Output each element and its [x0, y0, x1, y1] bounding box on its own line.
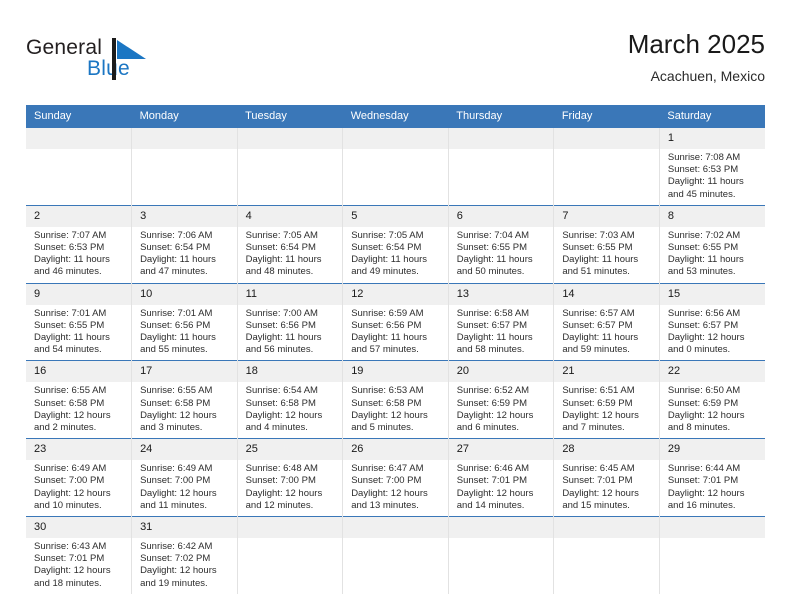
- day-sunrise-text: Sunrise: 6:55 AM: [140, 385, 232, 397]
- day-sunset-text: Sunset: 6:56 PM: [140, 320, 232, 332]
- day-sunrise-text: Sunrise: 7:01 AM: [34, 308, 126, 320]
- day-number: 4: [238, 206, 343, 227]
- day-daylight-line2-text: and 51 minutes.: [562, 266, 654, 278]
- day-sun-info: Sunrise: 6:49 AMSunset: 7:00 PMDaylight:…: [132, 460, 237, 516]
- calendar-week-row: 1Sunrise: 7:08 AMSunset: 6:53 PMDaylight…: [26, 128, 765, 205]
- day-sun-info: Sunrise: 6:58 AMSunset: 6:57 PMDaylight:…: [449, 305, 554, 361]
- day-sun-info: Sunrise: 6:55 AMSunset: 6:58 PMDaylight:…: [26, 382, 131, 438]
- day-daylight-line1-text: Daylight: 11 hours: [246, 254, 338, 266]
- day-daylight-line2-text: and 58 minutes.: [457, 344, 549, 356]
- day-sun-info: Sunrise: 7:06 AMSunset: 6:54 PMDaylight:…: [132, 227, 237, 283]
- calendar-day-cell[interactable]: 17Sunrise: 6:55 AMSunset: 6:58 PMDayligh…: [132, 361, 238, 439]
- calendar-empty-cell: [237, 517, 343, 594]
- calendar-empty-cell: [554, 128, 660, 205]
- day-daylight-line1-text: Daylight: 12 hours: [351, 410, 443, 422]
- day-sun-info: Sunrise: 6:57 AMSunset: 6:57 PMDaylight:…: [554, 305, 659, 361]
- day-sun-info: Sunrise: 6:52 AMSunset: 6:59 PMDaylight:…: [449, 382, 554, 438]
- day-daylight-line1-text: Daylight: 12 hours: [140, 488, 232, 500]
- day-daylight-line2-text: and 53 minutes.: [668, 266, 760, 278]
- day-daylight-line1-text: Daylight: 12 hours: [562, 410, 654, 422]
- calendar-day-cell[interactable]: 9Sunrise: 7:01 AMSunset: 6:55 PMDaylight…: [26, 283, 132, 361]
- calendar-day-cell[interactable]: 25Sunrise: 6:48 AMSunset: 7:00 PMDayligh…: [237, 439, 343, 517]
- day-number: [554, 128, 659, 149]
- calendar-table: Sunday Monday Tuesday Wednesday Thursday…: [26, 105, 765, 594]
- day-number: 1: [660, 128, 765, 149]
- day-number: [660, 517, 765, 538]
- day-sunrise-text: Sunrise: 6:46 AM: [457, 463, 549, 475]
- day-daylight-line2-text: and 4 minutes.: [246, 422, 338, 434]
- day-daylight-line1-text: Daylight: 12 hours: [668, 488, 760, 500]
- day-number: 9: [26, 284, 131, 305]
- day-number: [449, 128, 554, 149]
- day-sunrise-text: Sunrise: 7:04 AM: [457, 230, 549, 242]
- day-sun-info: Sunrise: 7:05 AMSunset: 6:54 PMDaylight:…: [343, 227, 448, 283]
- day-sun-info: Sunrise: 6:49 AMSunset: 7:00 PMDaylight:…: [26, 460, 131, 516]
- calendar-day-cell[interactable]: 15Sunrise: 6:56 AMSunset: 6:57 PMDayligh…: [659, 283, 765, 361]
- day-daylight-line1-text: Daylight: 12 hours: [562, 488, 654, 500]
- day-sunset-text: Sunset: 6:54 PM: [140, 242, 232, 254]
- calendar-day-cell[interactable]: 13Sunrise: 6:58 AMSunset: 6:57 PMDayligh…: [448, 283, 554, 361]
- day-sunrise-text: Sunrise: 6:58 AM: [457, 308, 549, 320]
- day-sun-info: Sunrise: 6:51 AMSunset: 6:59 PMDaylight:…: [554, 382, 659, 438]
- calendar-week-row: 30Sunrise: 6:43 AMSunset: 7:01 PMDayligh…: [26, 517, 765, 594]
- day-number: 19: [343, 361, 448, 382]
- calendar-day-cell[interactable]: 10Sunrise: 7:01 AMSunset: 6:56 PMDayligh…: [132, 283, 238, 361]
- calendar-empty-cell: [132, 128, 238, 205]
- calendar-week-row: 2Sunrise: 7:07 AMSunset: 6:53 PMDaylight…: [26, 205, 765, 283]
- day-daylight-line1-text: Daylight: 12 hours: [140, 565, 232, 577]
- flag-triangle-icon: [112, 38, 150, 80]
- weekday-header-sunday: Sunday: [26, 105, 132, 128]
- day-sunset-text: Sunset: 6:59 PM: [457, 398, 549, 410]
- day-number: 26: [343, 439, 448, 460]
- day-daylight-line2-text: and 11 minutes.: [140, 500, 232, 512]
- day-sunset-text: Sunset: 7:00 PM: [246, 475, 338, 487]
- day-sunset-text: Sunset: 6:53 PM: [668, 164, 760, 176]
- day-daylight-line1-text: Daylight: 12 hours: [246, 410, 338, 422]
- day-number: 3: [132, 206, 237, 227]
- calendar-day-cell[interactable]: 5Sunrise: 7:05 AMSunset: 6:54 PMDaylight…: [343, 205, 449, 283]
- day-sun-info: Sunrise: 7:02 AMSunset: 6:55 PMDaylight:…: [660, 227, 765, 283]
- day-daylight-line2-text: and 7 minutes.: [562, 422, 654, 434]
- page-subtitle: Acachuen, Mexico: [628, 66, 765, 86]
- day-sunrise-text: Sunrise: 7:02 AM: [668, 230, 760, 242]
- day-daylight-line1-text: Daylight: 12 hours: [140, 410, 232, 422]
- day-sunrise-text: Sunrise: 6:56 AM: [668, 308, 760, 320]
- day-number: 5: [343, 206, 448, 227]
- weekday-header-monday: Monday: [132, 105, 238, 128]
- day-sun-info: Sunrise: 6:45 AMSunset: 7:01 PMDaylight:…: [554, 460, 659, 516]
- day-sun-info: Sunrise: 7:05 AMSunset: 6:54 PMDaylight:…: [238, 227, 343, 283]
- day-daylight-line2-text: and 47 minutes.: [140, 266, 232, 278]
- day-number: 15: [660, 284, 765, 305]
- day-sun-info: Sunrise: 6:50 AMSunset: 6:59 PMDaylight:…: [660, 382, 765, 438]
- calendar-day-cell[interactable]: 8Sunrise: 7:02 AMSunset: 6:55 PMDaylight…: [659, 205, 765, 283]
- day-sunset-text: Sunset: 6:59 PM: [562, 398, 654, 410]
- day-sun-info: Sunrise: 6:53 AMSunset: 6:58 PMDaylight:…: [343, 382, 448, 438]
- day-sun-info: Sunrise: 6:59 AMSunset: 6:56 PMDaylight:…: [343, 305, 448, 361]
- day-sunrise-text: Sunrise: 7:06 AM: [140, 230, 232, 242]
- calendar-day-cell[interactable]: 2Sunrise: 7:07 AMSunset: 6:53 PMDaylight…: [26, 205, 132, 283]
- calendar-body: 1Sunrise: 7:08 AMSunset: 6:53 PMDaylight…: [26, 128, 765, 594]
- day-sunset-text: Sunset: 7:02 PM: [140, 553, 232, 565]
- calendar-week-row: 9Sunrise: 7:01 AMSunset: 6:55 PMDaylight…: [26, 283, 765, 361]
- day-sunrise-text: Sunrise: 6:52 AM: [457, 385, 549, 397]
- day-sun-info: Sunrise: 6:43 AMSunset: 7:01 PMDaylight:…: [26, 538, 131, 594]
- calendar-empty-cell: [448, 128, 554, 205]
- day-number: [238, 128, 343, 149]
- day-daylight-line1-text: Daylight: 11 hours: [140, 254, 232, 266]
- calendar-week-row: 23Sunrise: 6:49 AMSunset: 7:00 PMDayligh…: [26, 439, 765, 517]
- day-number: [343, 128, 448, 149]
- day-sunrise-text: Sunrise: 6:45 AM: [562, 463, 654, 475]
- page-header: General Blue March 2025 Acachuen, Mexico: [26, 28, 765, 94]
- day-daylight-line2-text: and 50 minutes.: [457, 266, 549, 278]
- day-number: 13: [449, 284, 554, 305]
- day-sunrise-text: Sunrise: 6:49 AM: [140, 463, 232, 475]
- calendar-day-cell[interactable]: 22Sunrise: 6:50 AMSunset: 6:59 PMDayligh…: [659, 361, 765, 439]
- day-sunset-text: Sunset: 6:55 PM: [34, 320, 126, 332]
- day-daylight-line1-text: Daylight: 11 hours: [457, 332, 549, 344]
- day-sunrise-text: Sunrise: 6:44 AM: [668, 463, 760, 475]
- calendar-day-cell[interactable]: 16Sunrise: 6:55 AMSunset: 6:58 PMDayligh…: [26, 361, 132, 439]
- day-number: 16: [26, 361, 131, 382]
- day-daylight-line2-text: and 10 minutes.: [34, 500, 126, 512]
- day-sunset-text: Sunset: 7:00 PM: [140, 475, 232, 487]
- day-sunrise-text: Sunrise: 6:51 AM: [562, 385, 654, 397]
- calendar-day-cell[interactable]: 23Sunrise: 6:49 AMSunset: 7:00 PMDayligh…: [26, 439, 132, 517]
- day-daylight-line1-text: Daylight: 11 hours: [351, 254, 443, 266]
- day-daylight-line2-text: and 5 minutes.: [351, 422, 443, 434]
- day-number: 18: [238, 361, 343, 382]
- day-sun-info: Sunrise: 7:00 AMSunset: 6:56 PMDaylight:…: [238, 305, 343, 361]
- calendar-page: General Blue March 2025 Acachuen, Mexico…: [0, 0, 792, 612]
- calendar-header-row: Sunday Monday Tuesday Wednesday Thursday…: [26, 105, 765, 128]
- day-daylight-line2-text: and 46 minutes.: [34, 266, 126, 278]
- calendar-empty-cell: [26, 128, 132, 205]
- calendar-day-cell[interactable]: 26Sunrise: 6:47 AMSunset: 7:00 PMDayligh…: [343, 439, 449, 517]
- day-sunset-text: Sunset: 6:57 PM: [457, 320, 549, 332]
- day-number: 7: [554, 206, 659, 227]
- day-number: 27: [449, 439, 554, 460]
- day-sunset-text: Sunset: 6:53 PM: [34, 242, 126, 254]
- day-daylight-line1-text: Daylight: 12 hours: [457, 410, 549, 422]
- day-sunset-text: Sunset: 7:01 PM: [34, 553, 126, 565]
- day-daylight-line1-text: Daylight: 12 hours: [668, 410, 760, 422]
- day-sunrise-text: Sunrise: 7:01 AM: [140, 308, 232, 320]
- calendar-day-cell[interactable]: 14Sunrise: 6:57 AMSunset: 6:57 PMDayligh…: [554, 283, 660, 361]
- day-sun-info: Sunrise: 7:03 AMSunset: 6:55 PMDaylight:…: [554, 227, 659, 283]
- day-sunrise-text: Sunrise: 6:43 AM: [34, 541, 126, 553]
- calendar-day-cell[interactable]: 24Sunrise: 6:49 AMSunset: 7:00 PMDayligh…: [132, 439, 238, 517]
- day-daylight-line1-text: Daylight: 12 hours: [34, 410, 126, 422]
- day-number: [26, 128, 131, 149]
- day-sun-info: Sunrise: 6:46 AMSunset: 7:01 PMDaylight:…: [449, 460, 554, 516]
- calendar-day-cell[interactable]: 29Sunrise: 6:44 AMSunset: 7:01 PMDayligh…: [659, 439, 765, 517]
- day-number: 11: [238, 284, 343, 305]
- calendar-day-cell[interactable]: 30Sunrise: 6:43 AMSunset: 7:01 PMDayligh…: [26, 517, 132, 594]
- day-sunrise-text: Sunrise: 6:59 AM: [351, 308, 443, 320]
- day-number: [554, 517, 659, 538]
- day-number: 14: [554, 284, 659, 305]
- calendar-day-cell[interactable]: 19Sunrise: 6:53 AMSunset: 6:58 PMDayligh…: [343, 361, 449, 439]
- day-sun-info: Sunrise: 7:01 AMSunset: 6:55 PMDaylight:…: [26, 305, 131, 361]
- day-sunrise-text: Sunrise: 7:03 AM: [562, 230, 654, 242]
- day-daylight-line2-text: and 0 minutes.: [668, 344, 760, 356]
- weekday-header-tuesday: Tuesday: [237, 105, 343, 128]
- day-sunrise-text: Sunrise: 6:57 AM: [562, 308, 654, 320]
- calendar-empty-cell: [448, 517, 554, 594]
- calendar-empty-cell: [554, 517, 660, 594]
- day-daylight-line1-text: Daylight: 11 hours: [562, 332, 654, 344]
- day-number: [132, 128, 237, 149]
- day-sunrise-text: Sunrise: 6:42 AM: [140, 541, 232, 553]
- day-sunrise-text: Sunrise: 6:50 AM: [668, 385, 760, 397]
- weekday-header-wednesday: Wednesday: [343, 105, 449, 128]
- day-sunset-text: Sunset: 7:01 PM: [457, 475, 549, 487]
- day-daylight-line2-text: and 16 minutes.: [668, 500, 760, 512]
- day-sunrise-text: Sunrise: 7:05 AM: [246, 230, 338, 242]
- day-sunset-text: Sunset: 6:56 PM: [351, 320, 443, 332]
- day-sunset-text: Sunset: 6:57 PM: [562, 320, 654, 332]
- day-sunrise-text: Sunrise: 6:53 AM: [351, 385, 443, 397]
- day-daylight-line2-text: and 49 minutes.: [351, 266, 443, 278]
- day-number: 20: [449, 361, 554, 382]
- page-title: March 2025: [628, 28, 765, 60]
- day-sunset-text: Sunset: 6:54 PM: [246, 242, 338, 254]
- day-daylight-line1-text: Daylight: 11 hours: [34, 332, 126, 344]
- day-daylight-line1-text: Daylight: 11 hours: [668, 176, 760, 188]
- weekday-header-thursday: Thursday: [448, 105, 554, 128]
- day-sunset-text: Sunset: 6:55 PM: [562, 242, 654, 254]
- day-sunset-text: Sunset: 6:59 PM: [668, 398, 760, 410]
- day-sunset-text: Sunset: 7:01 PM: [562, 475, 654, 487]
- calendar-empty-cell: [237, 128, 343, 205]
- day-sunset-text: Sunset: 7:01 PM: [668, 475, 760, 487]
- day-number: 6: [449, 206, 554, 227]
- calendar-day-cell[interactable]: 31Sunrise: 6:42 AMSunset: 7:02 PMDayligh…: [132, 517, 238, 594]
- day-daylight-line1-text: Daylight: 11 hours: [34, 254, 126, 266]
- day-daylight-line2-text: and 2 minutes.: [34, 422, 126, 434]
- day-sunset-text: Sunset: 6:57 PM: [668, 320, 760, 332]
- day-daylight-line2-text: and 54 minutes.: [34, 344, 126, 356]
- day-daylight-line1-text: Daylight: 12 hours: [246, 488, 338, 500]
- day-number: 12: [343, 284, 448, 305]
- day-sunset-text: Sunset: 6:55 PM: [668, 242, 760, 254]
- day-number: 31: [132, 517, 237, 538]
- day-sun-info: Sunrise: 6:48 AMSunset: 7:00 PMDaylight:…: [238, 460, 343, 516]
- calendar-day-cell[interactable]: 27Sunrise: 6:46 AMSunset: 7:01 PMDayligh…: [448, 439, 554, 517]
- calendar-day-cell[interactable]: 1Sunrise: 7:08 AMSunset: 6:53 PMDaylight…: [659, 128, 765, 205]
- day-daylight-line2-text: and 6 minutes.: [457, 422, 549, 434]
- calendar-day-cell[interactable]: 28Sunrise: 6:45 AMSunset: 7:01 PMDayligh…: [554, 439, 660, 517]
- calendar-week-row: 16Sunrise: 6:55 AMSunset: 6:58 PMDayligh…: [26, 361, 765, 439]
- day-sunset-text: Sunset: 6:56 PM: [246, 320, 338, 332]
- day-daylight-line1-text: Daylight: 11 hours: [668, 254, 760, 266]
- day-daylight-line1-text: Daylight: 12 hours: [668, 332, 760, 344]
- day-sunset-text: Sunset: 6:58 PM: [246, 398, 338, 410]
- day-sun-info: Sunrise: 6:54 AMSunset: 6:58 PMDaylight:…: [238, 382, 343, 438]
- day-sunset-text: Sunset: 6:58 PM: [140, 398, 232, 410]
- day-sunrise-text: Sunrise: 6:48 AM: [246, 463, 338, 475]
- day-daylight-line1-text: Daylight: 11 hours: [140, 332, 232, 344]
- day-daylight-line2-text: and 55 minutes.: [140, 344, 232, 356]
- day-number: [343, 517, 448, 538]
- calendar-day-cell[interactable]: 12Sunrise: 6:59 AMSunset: 6:56 PMDayligh…: [343, 283, 449, 361]
- day-number: 21: [554, 361, 659, 382]
- weekday-header-saturday: Saturday: [659, 105, 765, 128]
- day-daylight-line1-text: Daylight: 12 hours: [457, 488, 549, 500]
- day-sun-info: Sunrise: 7:01 AMSunset: 6:56 PMDaylight:…: [132, 305, 237, 361]
- day-daylight-line2-text: and 59 minutes.: [562, 344, 654, 356]
- day-number: 2: [26, 206, 131, 227]
- day-sunrise-text: Sunrise: 6:47 AM: [351, 463, 443, 475]
- day-sunrise-text: Sunrise: 6:49 AM: [34, 463, 126, 475]
- day-daylight-line1-text: Daylight: 11 hours: [457, 254, 549, 266]
- day-number: [449, 517, 554, 538]
- calendar-empty-cell: [659, 517, 765, 594]
- day-daylight-line1-text: Daylight: 12 hours: [34, 488, 126, 500]
- day-daylight-line1-text: Daylight: 12 hours: [351, 488, 443, 500]
- calendar-empty-cell: [343, 517, 449, 594]
- day-number: 29: [660, 439, 765, 460]
- day-daylight-line2-text: and 13 minutes.: [351, 500, 443, 512]
- calendar-day-cell[interactable]: 4Sunrise: 7:05 AMSunset: 6:54 PMDaylight…: [237, 205, 343, 283]
- calendar-day-cell[interactable]: 18Sunrise: 6:54 AMSunset: 6:58 PMDayligh…: [237, 361, 343, 439]
- brand-logo[interactable]: General Blue: [26, 36, 186, 92]
- day-sun-info: Sunrise: 6:56 AMSunset: 6:57 PMDaylight:…: [660, 305, 765, 361]
- day-sunset-text: Sunset: 6:55 PM: [457, 242, 549, 254]
- day-daylight-line1-text: Daylight: 12 hours: [34, 565, 126, 577]
- day-daylight-line1-text: Daylight: 11 hours: [246, 332, 338, 344]
- calendar-empty-cell: [343, 128, 449, 205]
- calendar-day-cell[interactable]: 6Sunrise: 7:04 AMSunset: 6:55 PMDaylight…: [448, 205, 554, 283]
- calendar-day-cell[interactable]: 11Sunrise: 7:00 AMSunset: 6:56 PMDayligh…: [237, 283, 343, 361]
- day-daylight-line2-text: and 15 minutes.: [562, 500, 654, 512]
- day-daylight-line2-text: and 3 minutes.: [140, 422, 232, 434]
- day-sun-info: Sunrise: 7:04 AMSunset: 6:55 PMDaylight:…: [449, 227, 554, 283]
- day-number: 30: [26, 517, 131, 538]
- day-number: 10: [132, 284, 237, 305]
- calendar-day-cell[interactable]: 7Sunrise: 7:03 AMSunset: 6:55 PMDaylight…: [554, 205, 660, 283]
- day-sunrise-text: Sunrise: 7:08 AM: [668, 152, 760, 164]
- day-sunset-text: Sunset: 7:00 PM: [351, 475, 443, 487]
- day-sun-info: Sunrise: 6:55 AMSunset: 6:58 PMDaylight:…: [132, 382, 237, 438]
- day-sunrise-text: Sunrise: 6:54 AM: [246, 385, 338, 397]
- day-number: 17: [132, 361, 237, 382]
- day-daylight-line2-text: and 18 minutes.: [34, 578, 126, 590]
- day-sun-info: Sunrise: 6:47 AMSunset: 7:00 PMDaylight:…: [343, 460, 448, 516]
- calendar-day-cell[interactable]: 20Sunrise: 6:52 AMSunset: 6:59 PMDayligh…: [448, 361, 554, 439]
- day-daylight-line2-text: and 57 minutes.: [351, 344, 443, 356]
- day-number: 25: [238, 439, 343, 460]
- day-daylight-line2-text: and 14 minutes.: [457, 500, 549, 512]
- weekday-header-friday: Friday: [554, 105, 660, 128]
- day-daylight-line2-text: and 48 minutes.: [246, 266, 338, 278]
- day-number: 22: [660, 361, 765, 382]
- calendar-day-cell[interactable]: 21Sunrise: 6:51 AMSunset: 6:59 PMDayligh…: [554, 361, 660, 439]
- day-sunrise-text: Sunrise: 7:00 AM: [246, 308, 338, 320]
- day-sunrise-text: Sunrise: 6:55 AM: [34, 385, 126, 397]
- day-daylight-line2-text: and 56 minutes.: [246, 344, 338, 356]
- title-block: March 2025 Acachuen, Mexico: [628, 28, 765, 86]
- day-daylight-line2-text: and 8 minutes.: [668, 422, 760, 434]
- calendar-day-cell[interactable]: 3Sunrise: 7:06 AMSunset: 6:54 PMDaylight…: [132, 205, 238, 283]
- day-number: 28: [554, 439, 659, 460]
- day-number: 24: [132, 439, 237, 460]
- day-number: 23: [26, 439, 131, 460]
- day-sun-info: Sunrise: 7:07 AMSunset: 6:53 PMDaylight:…: [26, 227, 131, 283]
- day-number: [238, 517, 343, 538]
- day-daylight-line2-text: and 45 minutes.: [668, 189, 760, 201]
- day-daylight-line1-text: Daylight: 11 hours: [562, 254, 654, 266]
- day-sun-info: Sunrise: 7:08 AMSunset: 6:53 PMDaylight:…: [660, 149, 765, 205]
- day-daylight-line2-text: and 19 minutes.: [140, 578, 232, 590]
- day-sunset-text: Sunset: 6:54 PM: [351, 242, 443, 254]
- day-sunset-text: Sunset: 6:58 PM: [351, 398, 443, 410]
- day-sunrise-text: Sunrise: 7:05 AM: [351, 230, 443, 242]
- day-sun-info: Sunrise: 6:42 AMSunset: 7:02 PMDaylight:…: [132, 538, 237, 594]
- day-sun-info: Sunrise: 6:44 AMSunset: 7:01 PMDaylight:…: [660, 460, 765, 516]
- day-daylight-line2-text: and 12 minutes.: [246, 500, 338, 512]
- day-sunset-text: Sunset: 7:00 PM: [34, 475, 126, 487]
- day-daylight-line1-text: Daylight: 11 hours: [351, 332, 443, 344]
- day-sunrise-text: Sunrise: 7:07 AM: [34, 230, 126, 242]
- day-number: 8: [660, 206, 765, 227]
- day-sunset-text: Sunset: 6:58 PM: [34, 398, 126, 410]
